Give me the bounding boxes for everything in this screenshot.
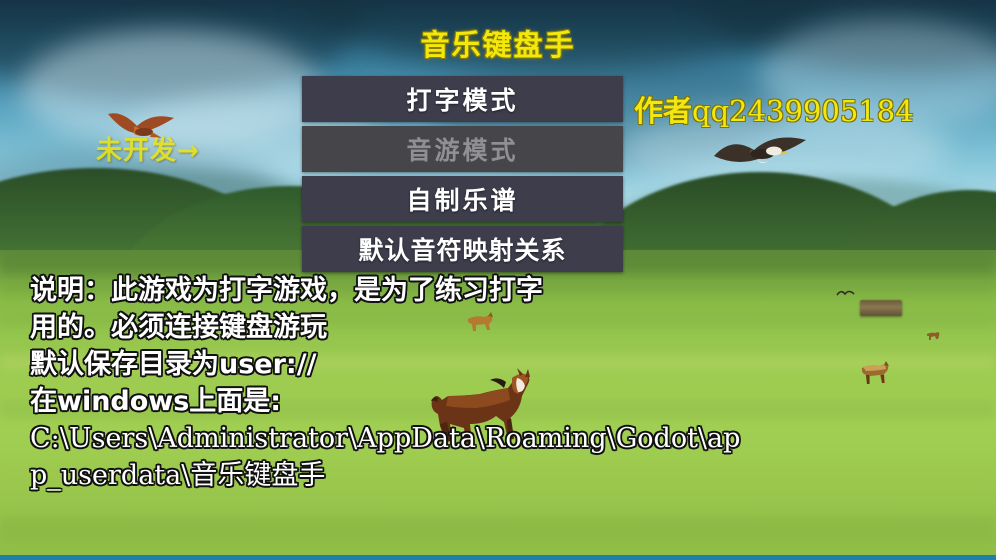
description-line-path: C:\Users\Administrator\AppData\Roaming\G… xyxy=(30,420,970,457)
game-window: 音乐键盘手 作者qq2439905184 未开发→ 打字模式 音游模式 自制乐谱… xyxy=(0,0,996,560)
main-menu: 打字模式 音游模式 自制乐谱 默认音符映射关系 xyxy=(302,76,623,276)
author-contact: qq2439905184 xyxy=(692,94,914,128)
bottom-bar xyxy=(0,555,996,560)
description-line: 默认保存目录为user:// xyxy=(30,346,970,383)
author-label: 作者 xyxy=(634,94,692,128)
menu-item-custom-score[interactable]: 自制乐谱 xyxy=(302,176,623,222)
description-line-path: p_userdata\音乐键盘手 xyxy=(30,457,970,494)
menu-item-typing-mode[interactable]: 打字模式 xyxy=(302,76,623,122)
description-line: 用的。必须连接键盘游玩 xyxy=(30,309,970,346)
description-block: 说明：此游戏为打字游戏，是为了练习打字 用的。必须连接键盘游玩 默认保存目录为u… xyxy=(30,272,970,494)
undeveloped-annotation: 未开发→ xyxy=(96,130,200,167)
menu-item-rhythm-mode: 音游模式 xyxy=(302,126,623,172)
description-line: 在windows上面是: xyxy=(30,383,970,420)
author-credit: 作者qq2439905184 xyxy=(634,88,914,130)
page-title: 音乐键盘手 xyxy=(0,22,996,64)
menu-item-default-note-mapping[interactable]: 默认音符映射关系 xyxy=(302,226,623,272)
eagle-icon xyxy=(710,128,810,176)
description-line: 说明：此游戏为打字游戏，是为了练习打字 xyxy=(30,272,970,309)
